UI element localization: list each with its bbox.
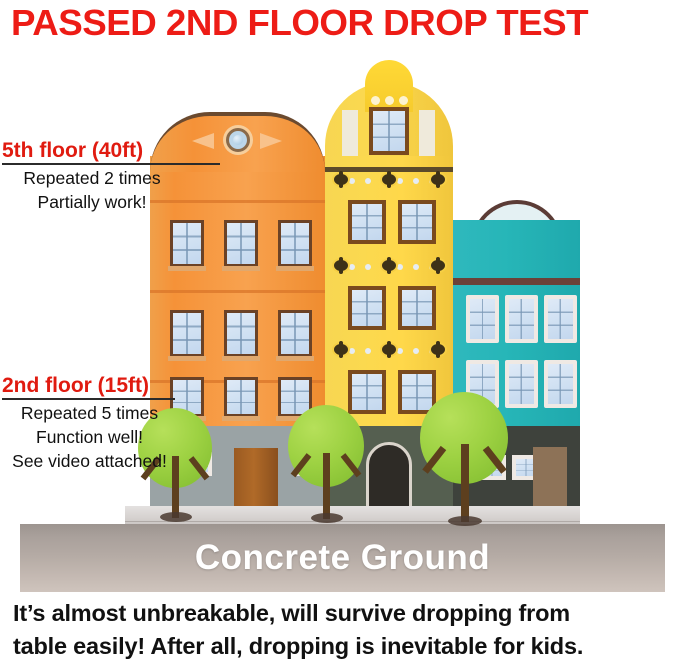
door-tan	[533, 447, 567, 509]
window	[348, 200, 386, 244]
callout-5th-leader-line	[2, 163, 220, 165]
orange-cornice-2	[150, 290, 325, 293]
sidewalk-edge	[125, 521, 580, 522]
window	[224, 310, 258, 357]
window	[398, 286, 436, 330]
bottom-caption: It’s almost unbreakable, will survive dr…	[13, 597, 668, 663]
yellow-medallion	[334, 174, 348, 185]
window	[224, 220, 258, 267]
callout-5th-title: 5th floor (40ft)	[2, 139, 220, 163]
window	[170, 310, 204, 357]
yellow-medallion	[382, 344, 396, 355]
window	[348, 286, 386, 330]
callout-2nd-line-1: Repeated 5 times	[2, 403, 177, 424]
callout-2nd-line-2: Function well!	[2, 427, 177, 448]
infographic-canvas: PASSED 2ND FLOOR DROP TEST	[0, 0, 679, 669]
window	[170, 220, 204, 267]
callout-5th-line-2: Partially work!	[2, 192, 182, 213]
yellow-dome-dot	[385, 96, 394, 105]
yellow-dome-dot	[399, 96, 408, 105]
yellow-medallion	[431, 174, 445, 185]
window	[278, 310, 312, 357]
yellow-medallion	[431, 260, 445, 271]
window	[398, 200, 436, 244]
caption-line-1: It’s almost unbreakable, will survive dr…	[13, 597, 668, 630]
yellow-medallion	[334, 260, 348, 271]
callout-2nd-leader-line	[2, 398, 175, 400]
yellow-medallion	[382, 260, 396, 271]
window	[505, 360, 538, 408]
yellow-medallion	[382, 174, 396, 185]
orange-ornament-right-icon	[260, 133, 282, 149]
headline-banner: PASSED 2ND FLOOR DROP TEST	[11, 2, 679, 44]
concrete-ground-label: Concrete Ground	[20, 530, 665, 586]
yellow-pilaster-right	[419, 110, 435, 160]
window	[466, 295, 499, 343]
window	[348, 370, 386, 414]
callout-5th-line-1: Repeated 2 times	[2, 168, 182, 189]
callout-2nd-floor: 2nd floor (15ft) Repeated 5 times Functi…	[2, 374, 177, 472]
orange-round-window	[226, 128, 250, 152]
window	[505, 295, 538, 343]
yellow-medallion	[334, 344, 348, 355]
window	[224, 377, 258, 417]
door-arched	[366, 442, 412, 509]
window	[544, 360, 577, 408]
window	[278, 220, 312, 267]
window	[369, 107, 409, 155]
yellow-dome-dot	[371, 96, 380, 105]
teal-cornice	[453, 278, 580, 285]
callout-5th-floor: 5th floor (40ft) Repeated 2 times Partia…	[2, 139, 220, 213]
yellow-pilaster-left	[342, 110, 358, 160]
caption-line-2: table easily! After all, dropping is ine…	[13, 630, 668, 663]
door-brown	[234, 448, 278, 509]
callout-2nd-line-3: See video attached!	[2, 451, 177, 472]
yellow-medallion	[431, 344, 445, 355]
callout-2nd-title: 2nd floor (15ft)	[2, 374, 177, 398]
window	[544, 295, 577, 343]
